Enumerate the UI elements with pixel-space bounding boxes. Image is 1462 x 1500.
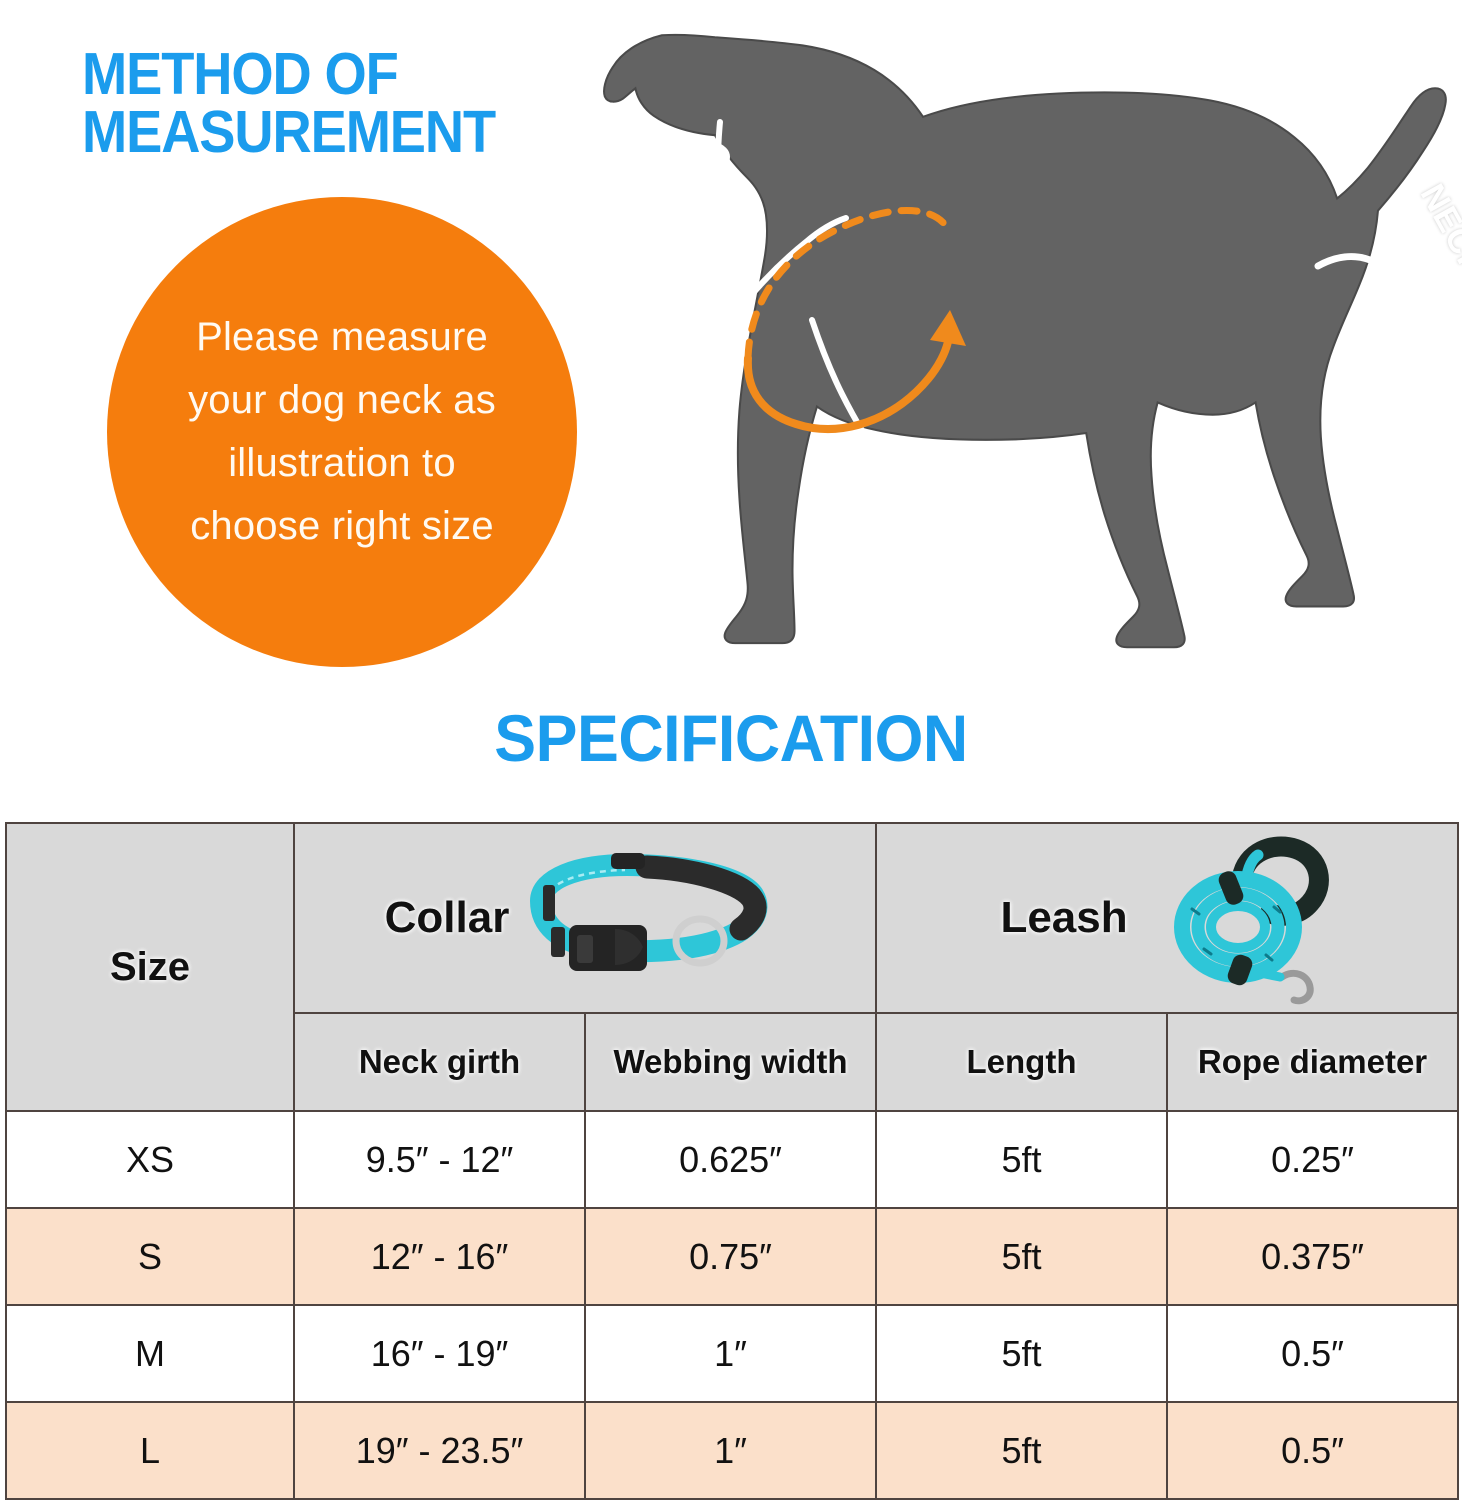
dog-illustration: NECK [600, 0, 1462, 680]
cell-rope-diameter: 0.375″ [1167, 1208, 1458, 1305]
header-rope-diameter: Rope diameter [1167, 1013, 1458, 1111]
cell-webbing-width: 1″ [585, 1305, 876, 1402]
table-row: S 12″ - 16″ 0.75″ 5ft 0.375″ [6, 1208, 1458, 1305]
header-webbing-width: Webbing width [585, 1013, 876, 1111]
dog-thigh-line [1424, 374, 1431, 404]
cell-size: XS [6, 1111, 294, 1208]
header-neck-girth: Neck girth [294, 1013, 585, 1111]
cell-length: 5ft [876, 1402, 1167, 1499]
header-length: Length [876, 1013, 1167, 1111]
table-row: XS 9.5″ - 12″ 0.625″ 5ft 0.25″ [6, 1111, 1458, 1208]
dog-rear-leg-line [1422, 448, 1458, 594]
cell-webbing-width: 0.75″ [585, 1208, 876, 1305]
cell-neck-girth: 16″ - 19″ [294, 1305, 585, 1402]
table-row: M 16″ - 19″ 1″ 5ft 0.5″ [6, 1305, 1458, 1402]
header-group-leash-label: Leash [1000, 893, 1127, 943]
measure-note-circle: Please measure your dog neck as illustra… [107, 197, 577, 667]
dog-body-shape [604, 35, 1446, 647]
cell-size: L [6, 1402, 294, 1499]
collar-icon [515, 843, 785, 993]
cell-webbing-width: 1″ [585, 1402, 876, 1499]
cell-rope-diameter: 0.25″ [1167, 1111, 1458, 1208]
header-group-leash: Leash [876, 823, 1458, 1013]
cell-neck-girth: 19″ - 23.5″ [294, 1402, 585, 1499]
measure-note-text: Please measure your dog neck as illustra… [165, 306, 519, 559]
cell-neck-girth: 12″ - 16″ [294, 1208, 585, 1305]
header-group-collar-label: Collar [385, 893, 510, 943]
cell-size: M [6, 1305, 294, 1402]
cell-length: 5ft [876, 1111, 1167, 1208]
cell-length: 5ft [876, 1305, 1167, 1402]
specification-table: Size Collar [5, 822, 1459, 1500]
dog-front-leg-line [866, 454, 880, 644]
page-title-line-2: MEASUREMENT [82, 104, 634, 162]
leash-icon [1134, 831, 1334, 1006]
size-chart-page: METHOD OF MEASUREMENT Please measure you… [0, 0, 1462, 1500]
dog-nose [626, 248, 645, 265]
header-group-collar: Collar [294, 823, 876, 1013]
cell-length: 5ft [876, 1208, 1167, 1305]
cell-rope-diameter: 0.5″ [1167, 1402, 1458, 1499]
cell-neck-girth: 9.5″ - 12″ [294, 1111, 585, 1208]
cell-webbing-width: 0.625″ [585, 1111, 876, 1208]
specification-title: SPECIFICATION [37, 700, 1426, 776]
table-header-row-groups: Size Collar [6, 823, 1458, 1013]
cell-rope-diameter: 0.5″ [1167, 1305, 1458, 1402]
page-title: METHOD OF MEASUREMENT [82, 46, 634, 162]
cell-size: S [6, 1208, 294, 1305]
dog-silhouette-svg [600, 0, 1462, 680]
page-title-line-1: METHOD OF [82, 46, 634, 104]
table-row: L 19″ - 23.5″ 1″ 5ft 0.5″ [6, 1402, 1458, 1499]
dog-eye [702, 146, 727, 166]
header-size: Size [6, 823, 294, 1111]
